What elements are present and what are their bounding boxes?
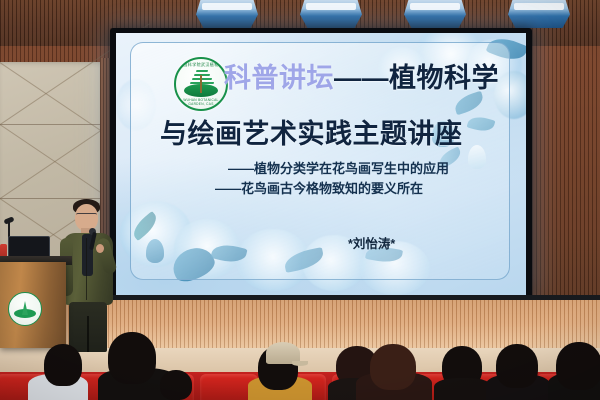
audience-cap-brim [292, 361, 308, 366]
audience-head [44, 344, 82, 386]
logo-trunk [200, 75, 202, 93]
slide-subtitle-1: ——植物分类学在花鸟画写生中的应用 [228, 158, 449, 177]
hexagonal-recessed-light [404, 0, 466, 28]
presenter-glasses [76, 213, 97, 219]
podium-organization-logo-icon [8, 292, 42, 326]
laptop-screen [8, 236, 50, 258]
slide-title-part1: 科普讲坛 [224, 63, 334, 93]
audience-head [556, 342, 600, 390]
presenter-hand [96, 244, 104, 253]
audience-head [496, 344, 538, 388]
presenter-leg-gap [87, 316, 89, 352]
audience-head [160, 370, 192, 400]
audience-head [108, 332, 156, 384]
logo-bottom-text: WUHAN BOTANICAL GARDEN, CAS [176, 98, 226, 106]
hexagonal-recessed-light [508, 0, 570, 28]
presenter-zipper [86, 238, 87, 300]
slide-title-line1: 科普讲坛——植物科学 [224, 56, 499, 95]
slide-speaker-name: *刘怡涛* [348, 233, 395, 252]
organization-logo-icon: 中国科学院武汉植物园 WUHAN BOTANICAL GARDEN, CAS [174, 57, 228, 111]
hexagonal-recessed-light [196, 0, 258, 28]
audience-head [370, 344, 416, 390]
hexagonal-recessed-light [300, 0, 362, 28]
audience-shoulder [434, 378, 492, 400]
lecture-hall-photo: 中国科学院武汉植物园 WUHAN BOTANICAL GARDEN, CAS 科… [0, 0, 600, 400]
logo-top-text: 中国科学院武汉植物园 [176, 62, 226, 68]
slide-title-line2: 与绘画艺术实践主题讲座 [160, 112, 463, 151]
slide-title-part2: ——植物科学 [334, 63, 499, 93]
slide-subtitle-2: ——花鸟画古今格物致知的要义所在 [215, 178, 423, 197]
presenter [58, 198, 120, 350]
